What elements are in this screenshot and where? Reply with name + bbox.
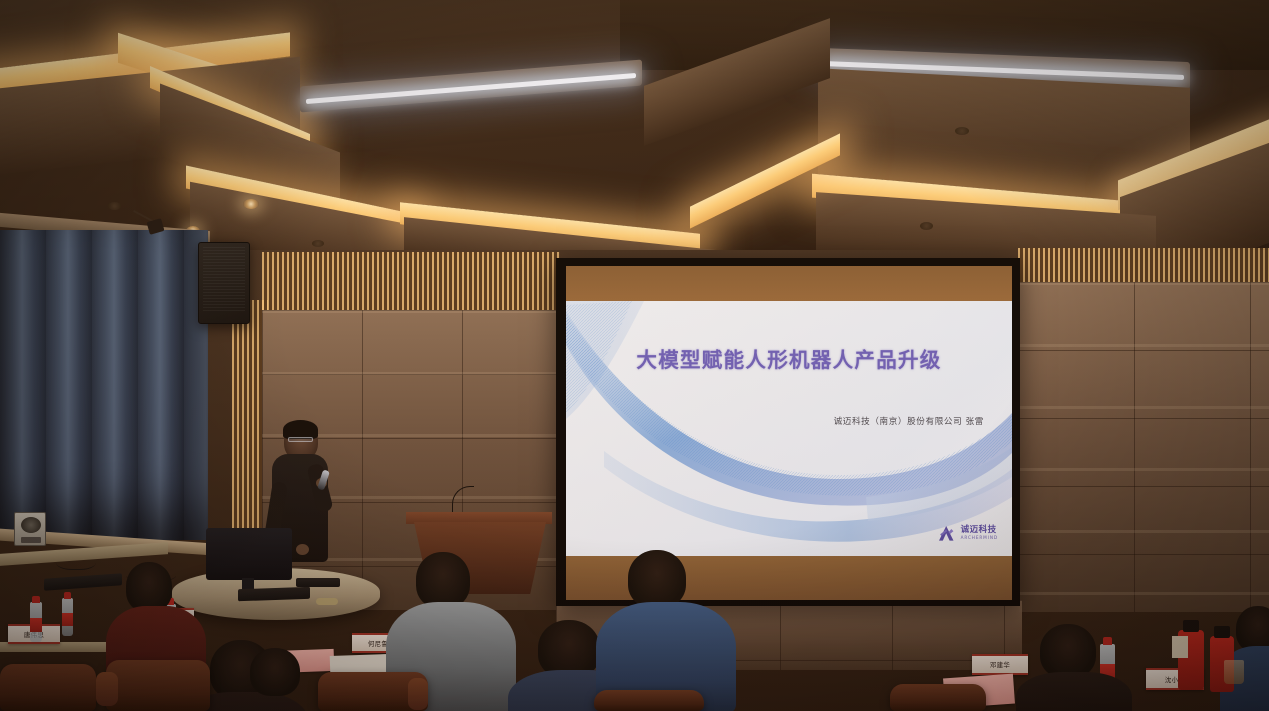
chair-4[interactable] xyxy=(594,690,704,711)
name-placard-4: 邓建华 xyxy=(972,654,1028,675)
presenter-hand-lower xyxy=(296,544,309,555)
chair-2[interactable] xyxy=(106,660,210,711)
slide-title: 大模型赋能人形机器人产品升级 xyxy=(566,343,1012,373)
water-bottle-1 xyxy=(30,602,42,642)
extinguisher-tag xyxy=(1172,636,1188,658)
water-bottle-2 xyxy=(62,598,73,636)
conference-room-photo: 大模型赋能人形机器人产品升级 诚迈科技（南京）股份有限公司 张雷 诚迈科技 AR… xyxy=(0,0,1269,711)
recessed-downlight-d xyxy=(312,240,324,247)
chair-5[interactable] xyxy=(890,684,986,711)
wood-slat-panel-left xyxy=(262,252,560,314)
audience-6-body xyxy=(1016,672,1132,711)
padded-wall-highlight-right xyxy=(1018,282,1269,612)
drinking-glass xyxy=(1224,660,1244,684)
recessed-downlight-a xyxy=(243,199,259,209)
extinguisher-head-1 xyxy=(1183,620,1199,632)
handout-paper-white xyxy=(330,654,389,674)
window-curtain[interactable] xyxy=(0,230,208,540)
slide-logo: 诚迈科技 ARCHERMIND xyxy=(937,525,998,542)
chair-1[interactable] xyxy=(0,664,96,711)
presenter-glasses xyxy=(288,437,313,442)
audience-3-head xyxy=(416,552,470,608)
bottle-cap-4 xyxy=(1103,637,1112,645)
recessed-downlight-right xyxy=(955,127,969,135)
bottle-cap-2 xyxy=(64,592,71,599)
air-purifier-vent xyxy=(21,537,41,543)
speaker-grille xyxy=(203,247,245,313)
screen-top-overscan xyxy=(566,266,1012,301)
audience-5-head xyxy=(628,550,686,608)
slide-subtitle: 诚迈科技（南京）股份有限公司 张雷 xyxy=(834,415,984,427)
audience-6-head xyxy=(1040,624,1096,678)
wall-speaker xyxy=(198,242,250,324)
presentation-slide[interactable]: 大模型赋能人形机器人产品升级 诚迈科技（南京）股份有限公司 张雷 诚迈科技 AR… xyxy=(566,301,1012,556)
bottle-cap-1 xyxy=(32,596,40,603)
keyboard-main xyxy=(238,587,310,602)
chair-arm-1 xyxy=(96,672,118,706)
logo-chinese-text: 诚迈科技 xyxy=(961,526,998,535)
desk-object-tan xyxy=(316,598,338,605)
bottle-label-1 xyxy=(30,618,42,632)
recessed-downlight-c xyxy=(108,202,121,210)
padded-wall-right xyxy=(1018,282,1269,612)
archermind-logo-icon xyxy=(937,525,957,542)
extinguisher-head-2 xyxy=(1214,626,1230,638)
remote-control[interactable] xyxy=(296,578,340,587)
slide-wave-decoration xyxy=(566,301,1012,556)
cable-a xyxy=(56,552,96,570)
audience-1-head xyxy=(126,562,172,612)
air-purifier-fan-icon xyxy=(21,517,41,533)
audience-8-head xyxy=(250,648,300,696)
air-purifier-unit xyxy=(14,512,46,546)
bottle-label-2 xyxy=(62,613,73,626)
control-monitor xyxy=(206,528,292,580)
name-placard-4-text: 邓建华 xyxy=(990,660,1010,669)
wood-slat-panel-right xyxy=(1018,248,1269,284)
fire-extinguisher-1 xyxy=(1178,630,1204,690)
recessed-downlight-e xyxy=(920,222,933,230)
logo-english-text: ARCHERMIND xyxy=(961,536,998,540)
chair-arm-2 xyxy=(408,678,428,710)
